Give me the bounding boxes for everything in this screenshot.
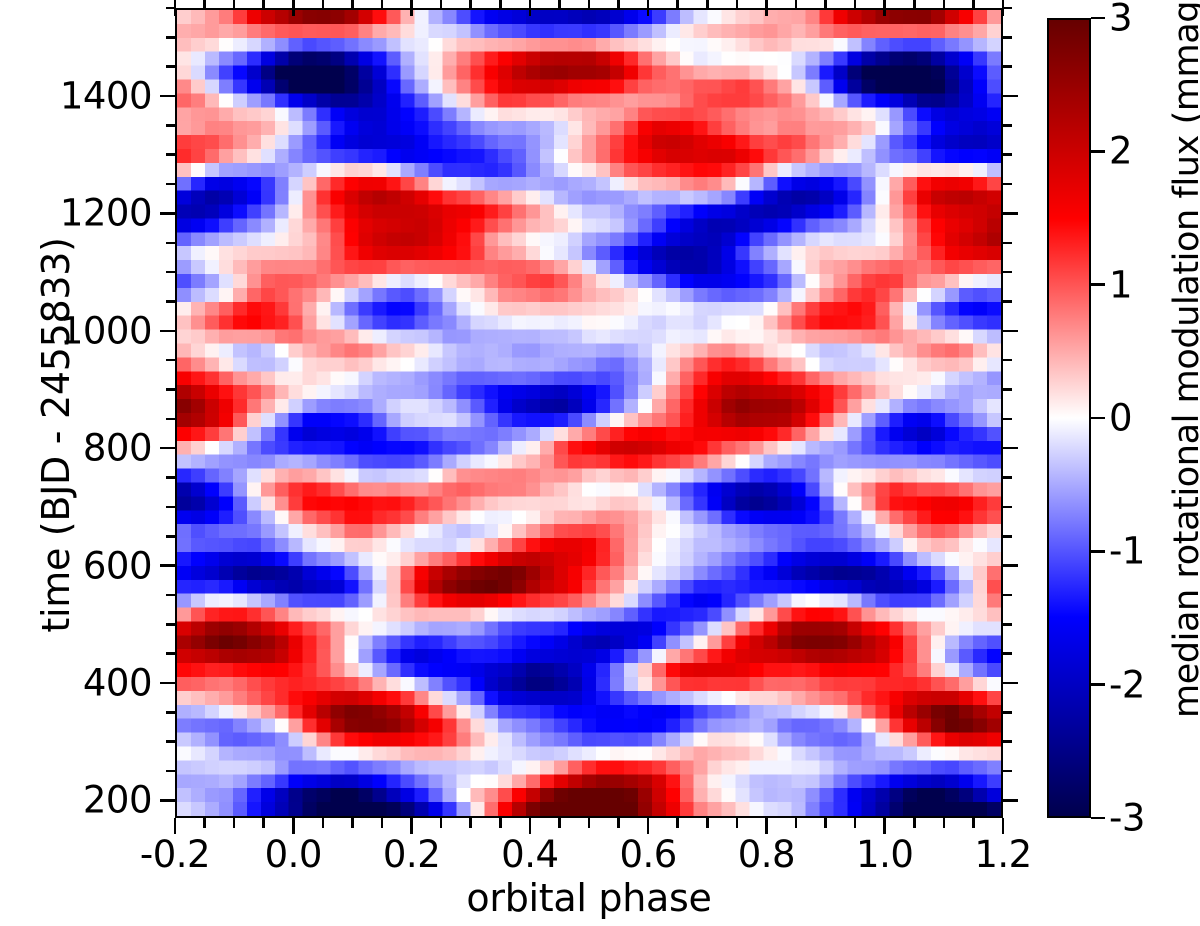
x-tick-minor [972,818,975,828]
y-tick-minor-right [1002,36,1012,39]
x-tick-major-top [292,0,295,16]
y-tick-minor-right [1002,359,1012,362]
y-tick-minor [166,652,176,655]
heatmap-figure: 200400600800100012001400-0.20.00.20.40.6… [0,0,1200,926]
y-tick-minor-right [1002,271,1012,274]
y-tick-label: 800 [83,427,152,470]
colorbar-tick [1091,550,1105,553]
y-tick-minor [166,535,176,538]
y-tick-minor-right [1002,242,1012,245]
x-tick-minor-top [351,0,354,10]
y-tick-major [160,682,176,685]
y-tick-minor [166,300,176,303]
x-tick-major-top [1002,0,1005,16]
x-tick-label: 0.2 [383,833,440,876]
y-tick-minor [166,183,176,186]
x-tick-minor [499,818,502,828]
y-tick-label: 200 [83,779,152,822]
x-tick-minor-top [943,0,946,10]
x-tick-minor-top [469,0,472,10]
x-tick-minor [617,818,620,828]
y-tick-major [160,95,176,98]
colorbar-tick [1091,283,1105,286]
y-tick-minor-right [1002,418,1012,421]
colorbar [1047,18,1091,818]
x-tick-minor-top [203,0,206,10]
y-tick-minor-right [1002,535,1012,538]
y-tick-minor [166,594,176,597]
y-tick-minor [166,711,176,714]
x-tick-minor-top [322,0,325,10]
y-tick-major-right [1002,95,1018,98]
y-tick-minor [166,418,176,421]
x-tick-major-top [174,0,177,16]
y-tick-minor [166,242,176,245]
x-tick-minor [943,818,946,828]
y-tick-major-right [1002,799,1018,802]
y-tick-label: 600 [83,544,152,587]
y-tick-major-right [1002,564,1018,567]
x-tick-minor-top [262,0,265,10]
x-tick-minor-top [440,0,443,10]
x-tick-minor [262,818,265,828]
x-tick-minor [676,818,679,828]
y-tick-minor [166,623,176,626]
y-tick-minor-right [1002,623,1012,626]
x-tick-label: -0.2 [140,833,210,876]
x-tick-minor-top [233,0,236,10]
y-tick-minor-right [1002,153,1012,156]
y-tick-minor [166,271,176,274]
x-tick-label: 0.0 [265,833,322,876]
y-tick-major [160,564,176,567]
y-tick-minor [166,388,176,391]
x-tick-minor [913,818,916,828]
x-tick-minor [440,818,443,828]
x-tick-major [174,818,177,834]
x-tick-major [292,818,295,834]
x-tick-major-top [410,0,413,16]
y-tick-minor-right [1002,183,1012,186]
x-tick-minor-top [972,0,975,10]
x-tick-minor [381,818,384,828]
y-tick-minor [166,476,176,479]
x-tick-label: 0.6 [619,833,676,876]
x-tick-major [1002,818,1005,834]
x-tick-label: 0.4 [501,833,558,876]
x-tick-major [883,818,886,834]
y-tick-major [160,212,176,215]
colorbar-tick-label: -1 [1109,530,1145,573]
y-tick-minor [166,65,176,68]
y-tick-minor-right [1002,124,1012,127]
y-tick-minor-right [1002,65,1012,68]
x-tick-minor [322,818,325,828]
x-tick-minor-top [588,0,591,10]
colorbar-tick [1091,683,1105,686]
y-tick-major [160,447,176,450]
heatmap-plot-area [175,8,1003,818]
x-tick-major-top [765,0,768,16]
x-tick-minor [854,818,857,828]
y-tick-minor-right [1002,711,1012,714]
x-tick-minor-top [854,0,857,10]
x-tick-label: 0.8 [738,833,795,876]
y-tick-major-right [1002,447,1018,450]
colorbar-tick [1091,17,1105,20]
x-axis-title: orbital phase [175,876,1003,920]
y-tick-minor-right [1002,652,1012,655]
x-tick-minor [558,818,561,828]
colorbar-tick-label: 1 [1109,263,1132,306]
x-tick-major-top [647,0,650,16]
x-tick-major [647,818,650,834]
x-tick-major [529,818,532,834]
y-tick-minor-right [1002,476,1012,479]
x-tick-major-top [883,0,886,16]
x-tick-major [765,818,768,834]
x-tick-minor [351,818,354,828]
y-tick-label: 400 [83,662,152,705]
y-tick-minor-right [1002,300,1012,303]
x-tick-minor-top [824,0,827,10]
y-axis-title: time (BJD - 2455833) [34,35,78,835]
y-tick-major-right [1002,212,1018,215]
colorbar-tick-label: -2 [1109,663,1145,706]
colorbar-title: median rotational modulation flux (mmag) [1167,158,1200,718]
y-tick-major [160,330,176,333]
x-tick-minor-top [913,0,916,10]
y-tick-minor [166,153,176,156]
x-tick-minor-top [676,0,679,10]
x-tick-label: 1.0 [856,833,913,876]
y-tick-minor [166,36,176,39]
x-tick-minor-top [381,0,384,10]
y-tick-minor-right [1002,594,1012,597]
x-tick-minor [469,818,472,828]
x-tick-label: 1.2 [974,833,1031,876]
x-tick-major-top [529,0,532,16]
x-tick-minor-top [617,0,620,10]
x-tick-minor-top [736,0,739,10]
x-tick-minor [706,818,709,828]
colorbar-tick [1091,817,1105,820]
colorbar-tick-label: -3 [1109,797,1145,840]
colorbar-gradient [1049,20,1089,816]
x-tick-minor [795,818,798,828]
y-tick-minor [166,124,176,127]
colorbar-tick [1091,417,1105,420]
x-tick-minor-top [558,0,561,10]
y-tick-major [160,799,176,802]
y-tick-minor [166,506,176,509]
y-tick-minor-right [1002,770,1012,773]
x-tick-minor [203,818,206,828]
x-tick-minor-top [706,0,709,10]
y-tick-minor-right [1002,388,1012,391]
y-tick-major-right [1002,330,1018,333]
colorbar-tick-label: 2 [1109,130,1132,173]
y-tick-minor-right [1002,506,1012,509]
x-tick-major [410,818,413,834]
y-tick-minor [166,359,176,362]
x-tick-minor-top [795,0,798,10]
x-tick-minor-top [499,0,502,10]
x-tick-minor [736,818,739,828]
heatmap-image [177,10,1001,816]
colorbar-tick [1091,150,1105,153]
y-tick-minor-right [1002,740,1012,743]
x-tick-minor [233,818,236,828]
y-tick-major-right [1002,682,1018,685]
x-tick-minor [824,818,827,828]
colorbar-tick-label: 3 [1109,0,1132,40]
x-tick-minor [588,818,591,828]
y-tick-minor [166,770,176,773]
colorbar-tick-label: 0 [1109,397,1132,440]
y-tick-minor [166,740,176,743]
